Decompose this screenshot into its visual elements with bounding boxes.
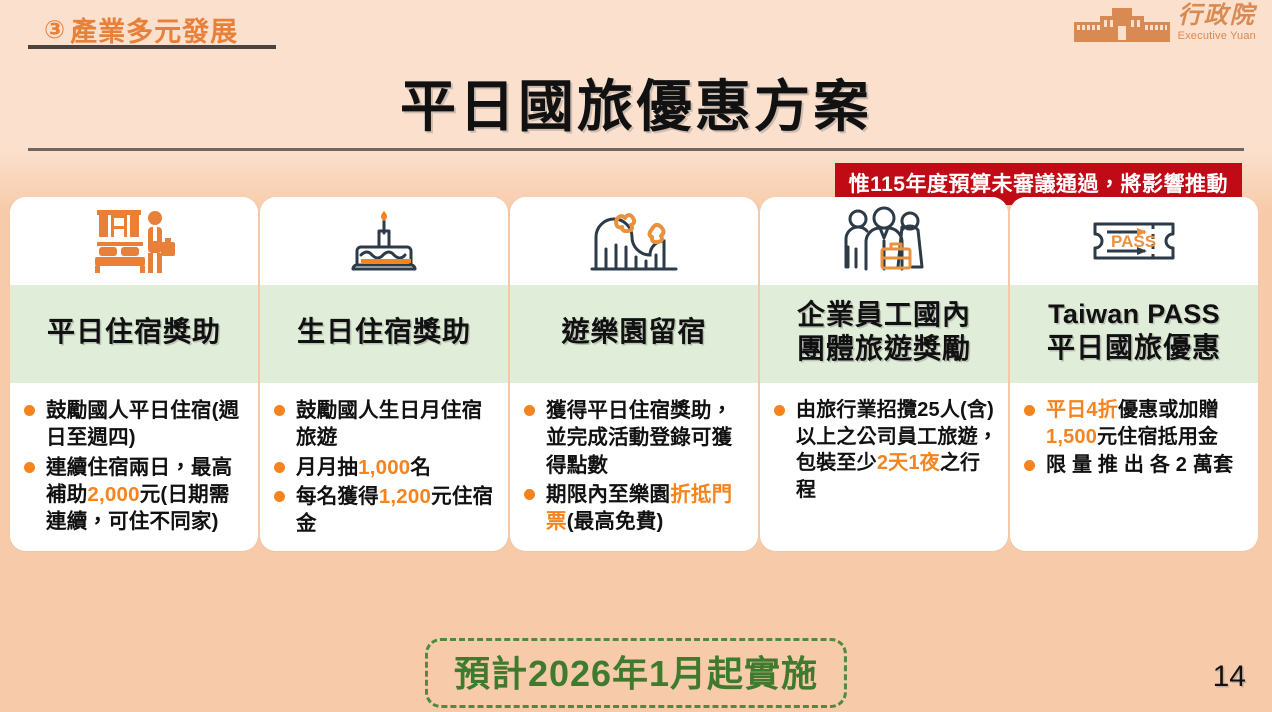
program-bullet-list: 由旅行業招攬25人(含)以上之公司員工旅遊，包裝至少2天1夜之行程 [772, 397, 998, 503]
highlight-text: 1,000 [358, 456, 410, 479]
program-card-row: 平日住宿獎助鼓勵國人平日住宿(週日至週四)連續住宿兩日，最高補助2,000元(日… [10, 197, 1262, 551]
bullet-text: (最高免費) [567, 510, 664, 533]
highlight-text: 2天1夜 [877, 452, 940, 474]
program-bullet-item: 限 量 推 出 各 2 萬套 [1022, 452, 1248, 479]
program-card-title-line: 平日住宿獎助 [47, 315, 221, 349]
program-bullet-item: 獲得平日住宿獎助，並完成活動登錄可獲得點數 [522, 397, 748, 479]
program-card-title-line: 生日住宿獎助 [297, 315, 471, 349]
program-card-body: 鼓勵國人生日月住宿旅遊月月抽1,000名每名獲得1,200元住宿金 [260, 383, 508, 551]
program-bullet-list: 鼓勵國人平日住宿(週日至週四)連續住宿兩日，最高補助2,000元(日期需連續，可… [22, 397, 248, 535]
implementation-note: 預計2026年1月起實施 [425, 638, 847, 708]
bullet-text: 鼓勵國人平日住宿(週日至週四) [46, 399, 239, 449]
program-card-body: 鼓勵國人平日住宿(週日至週四)連續住宿兩日，最高補助2,000元(日期需連續，可… [10, 383, 258, 551]
program-card: 平日住宿獎助鼓勵國人平日住宿(週日至週四)連續住宿兩日，最高補助2,000元(日… [10, 197, 258, 551]
birthday-cake-icon [260, 197, 508, 285]
program-card: 遊樂園留宿獲得平日住宿獎助，並完成活動登錄可獲得點數期限內至樂園折抵門票(最高免… [510, 197, 758, 551]
svg-text:PASS: PASS [1111, 232, 1156, 251]
program-card: PASS Taiwan PASS平日國旅優惠平日4折優惠或加贈1,500元住宿抵… [1010, 197, 1258, 551]
program-card-title: 生日住宿獎助 [260, 285, 508, 383]
page-title: 平日國旅優惠方案 [0, 62, 1272, 143]
program-bullet-item: 連續住宿兩日，最高補助2,000元(日期需連續，可住不同家) [22, 454, 248, 536]
bullet-text: 獲得平日住宿獎助，並完成活動登錄可獲得點數 [546, 399, 732, 477]
program-bullet-item: 平日4折優惠或加贈1,500元住宿抵用金 [1022, 397, 1248, 450]
employees-group-icon [760, 197, 1008, 285]
executive-yuan-wordmark: 行政院 Executive Yuan [1178, 4, 1256, 42]
highlight-text: 2,000 [87, 483, 139, 506]
bullet-text: 限 量 推 出 各 2 萬套 [1046, 454, 1233, 476]
bullet-text: 優惠或加贈 [1118, 399, 1219, 421]
program-bullet-item: 鼓勵國人平日住宿(週日至週四) [22, 397, 248, 452]
roller-coaster-icon [510, 197, 758, 285]
highlight-text: 1,500 [1046, 426, 1097, 448]
program-card-title-line: 遊樂園留宿 [561, 315, 706, 349]
program-card-body: 平日4折優惠或加贈1,500元住宿抵用金限 量 推 出 各 2 萬套 [1010, 383, 1258, 551]
program-bullet-item: 每名獲得1,200元住宿金 [272, 483, 498, 538]
program-card-title: 遊樂園留宿 [510, 285, 758, 383]
program-card: 企業員工國內團體旅遊獎勵由旅行業招攬25人(含)以上之公司員工旅遊，包裝至少2天… [760, 197, 1008, 551]
program-card-title-line: 企業員工國內 [797, 298, 971, 332]
program-card-body: 由旅行業招攬25人(含)以上之公司員工旅遊，包裝至少2天1夜之行程 [760, 383, 1008, 551]
section-kicker: ③ 產業多元發展 [44, 10, 238, 49]
government-building-icon [1074, 8, 1170, 42]
bullet-text: 期限內至樂園 [546, 483, 670, 506]
program-bullet-list: 獲得平日住宿獎助，並完成活動登錄可獲得點數期限內至樂園折抵門票(最高免費) [522, 397, 748, 535]
program-card-title: Taiwan PASS平日國旅優惠 [1010, 285, 1258, 383]
program-card: 生日住宿獎助鼓勵國人生日月住宿旅遊月月抽1,000名每名獲得1,200元住宿金 [260, 197, 508, 551]
program-card-title-line: 平日國旅優惠 [1047, 331, 1221, 365]
program-card-title: 平日住宿獎助 [10, 285, 258, 383]
title-divider [28, 148, 1244, 151]
executive-yuan-logo: 行政院 Executive Yuan [1074, 4, 1256, 42]
bullet-text: 元住宿抵用金 [1097, 426, 1218, 448]
kicker-label: 產業多元發展 [70, 10, 238, 49]
program-bullet-list: 平日4折優惠或加贈1,500元住宿抵用金限 量 推 出 各 2 萬套 [1022, 397, 1248, 479]
program-bullet-item: 鼓勵國人生日月住宿旅遊 [272, 397, 498, 452]
pass-ticket-icon: PASS [1010, 197, 1258, 285]
program-bullet-item: 月月抽1,000名 [272, 454, 498, 481]
org-name-cn: 行政院 [1178, 4, 1256, 29]
org-name-en: Executive Yuan [1178, 30, 1256, 42]
bullet-text: 名 [410, 456, 431, 479]
highlight-text: 平日4折 [1046, 399, 1118, 421]
bullet-text: 月月抽 [296, 456, 358, 479]
page-number: 14 [1213, 660, 1246, 694]
program-card-body: 獲得平日住宿獎助，並完成活動登錄可獲得點數期限內至樂園折抵門票(最高免費) [510, 383, 758, 551]
bullet-text: 鼓勵國人生日月住宿旅遊 [296, 399, 482, 449]
highlight-text: 1,200 [379, 485, 431, 508]
bullet-text: 每名獲得 [296, 485, 379, 508]
program-bullet-list: 鼓勵國人生日月住宿旅遊月月抽1,000名每名獲得1,200元住宿金 [272, 397, 498, 537]
program-card-title-line: Taiwan PASS [1048, 298, 1220, 331]
program-bullet-item: 由旅行業招攬25人(含)以上之公司員工旅遊，包裝至少2天1夜之行程 [772, 397, 998, 503]
kicker-number: ③ [44, 15, 66, 45]
program-bullet-item: 期限內至樂園折抵門票(最高免費) [522, 481, 748, 536]
program-card-title-line: 團體旅遊獎勵 [797, 332, 971, 366]
hotel-bed-traveler-icon [10, 197, 258, 285]
program-card-title: 企業員工國內團體旅遊獎勵 [760, 285, 1008, 383]
kicker-underline [28, 45, 276, 49]
